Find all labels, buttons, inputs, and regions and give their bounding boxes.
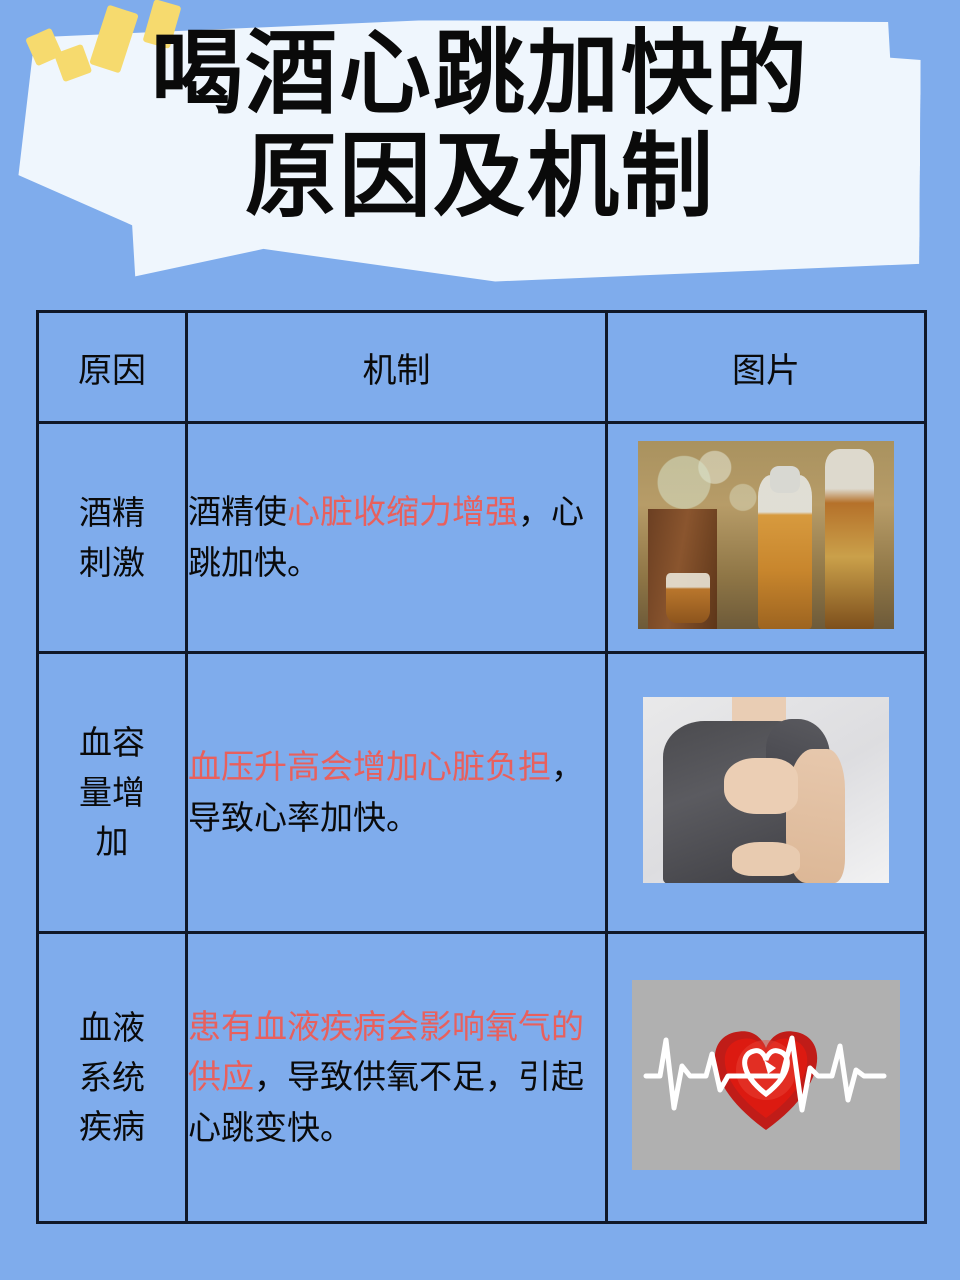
cell-mechanism: 患有血液疾病会影响氧气的供应，导致供氧不足，引起心跳变快。 <box>187 933 607 1223</box>
table-row: 血液系统疾病 患有血液疾病会影响氧气的供应，导致供氧不足，引起心跳变快。 <box>38 933 926 1223</box>
column-header-image: 图片 <box>607 312 926 423</box>
table-header-row: 原因 机制 图片 <box>38 312 926 423</box>
cell-mechanism: 酒精使心脏收缩力增强，心跳加快。 <box>187 423 607 653</box>
column-header-reason: 原因 <box>38 312 187 423</box>
cell-image <box>607 933 926 1223</box>
header-banner: 喝酒心跳加快的 原因及机制 <box>0 0 960 310</box>
causes-mechanisms-table: 原因 机制 图片 酒精刺激 酒精使心脏收缩力增强，心跳加快。 血容量增加 <box>36 310 927 1224</box>
cell-reason: 酒精刺激 <box>38 423 187 653</box>
heart-ecg-icon <box>632 980 900 1170</box>
page-title-line-2: 原因及机制 <box>0 125 960 228</box>
cell-reason: 血液系统疾病 <box>38 933 187 1223</box>
heart-ecg-graphic <box>632 980 900 1170</box>
cell-image <box>607 423 926 653</box>
mechanism-text-highlight: 心脏收缩力增强 <box>287 492 518 531</box>
page-title-line-1: 喝酒心跳加快的 <box>0 22 960 125</box>
table-row: 血容量增加 血压升高会增加心脏负担，导致心率加快。 <box>38 653 926 933</box>
woman-chest-pain-photo <box>643 697 889 883</box>
cell-mechanism: 血压升高会增加心脏负担，导致心率加快。 <box>187 653 607 933</box>
cell-image <box>607 653 926 933</box>
mechanism-text-highlight: 血压升高会增加心脏负担 <box>188 747 551 786</box>
table-row: 酒精刺激 酒精使心脏收缩力增强，心跳加快。 <box>38 423 926 653</box>
column-header-mechanism: 机制 <box>187 312 607 423</box>
page-title: 喝酒心跳加快的 原因及机制 <box>0 22 960 228</box>
liquor-bottles-photo <box>638 441 894 629</box>
cell-reason: 血容量增加 <box>38 653 187 933</box>
mechanism-text-plain-prefix: 酒精使 <box>188 492 287 531</box>
